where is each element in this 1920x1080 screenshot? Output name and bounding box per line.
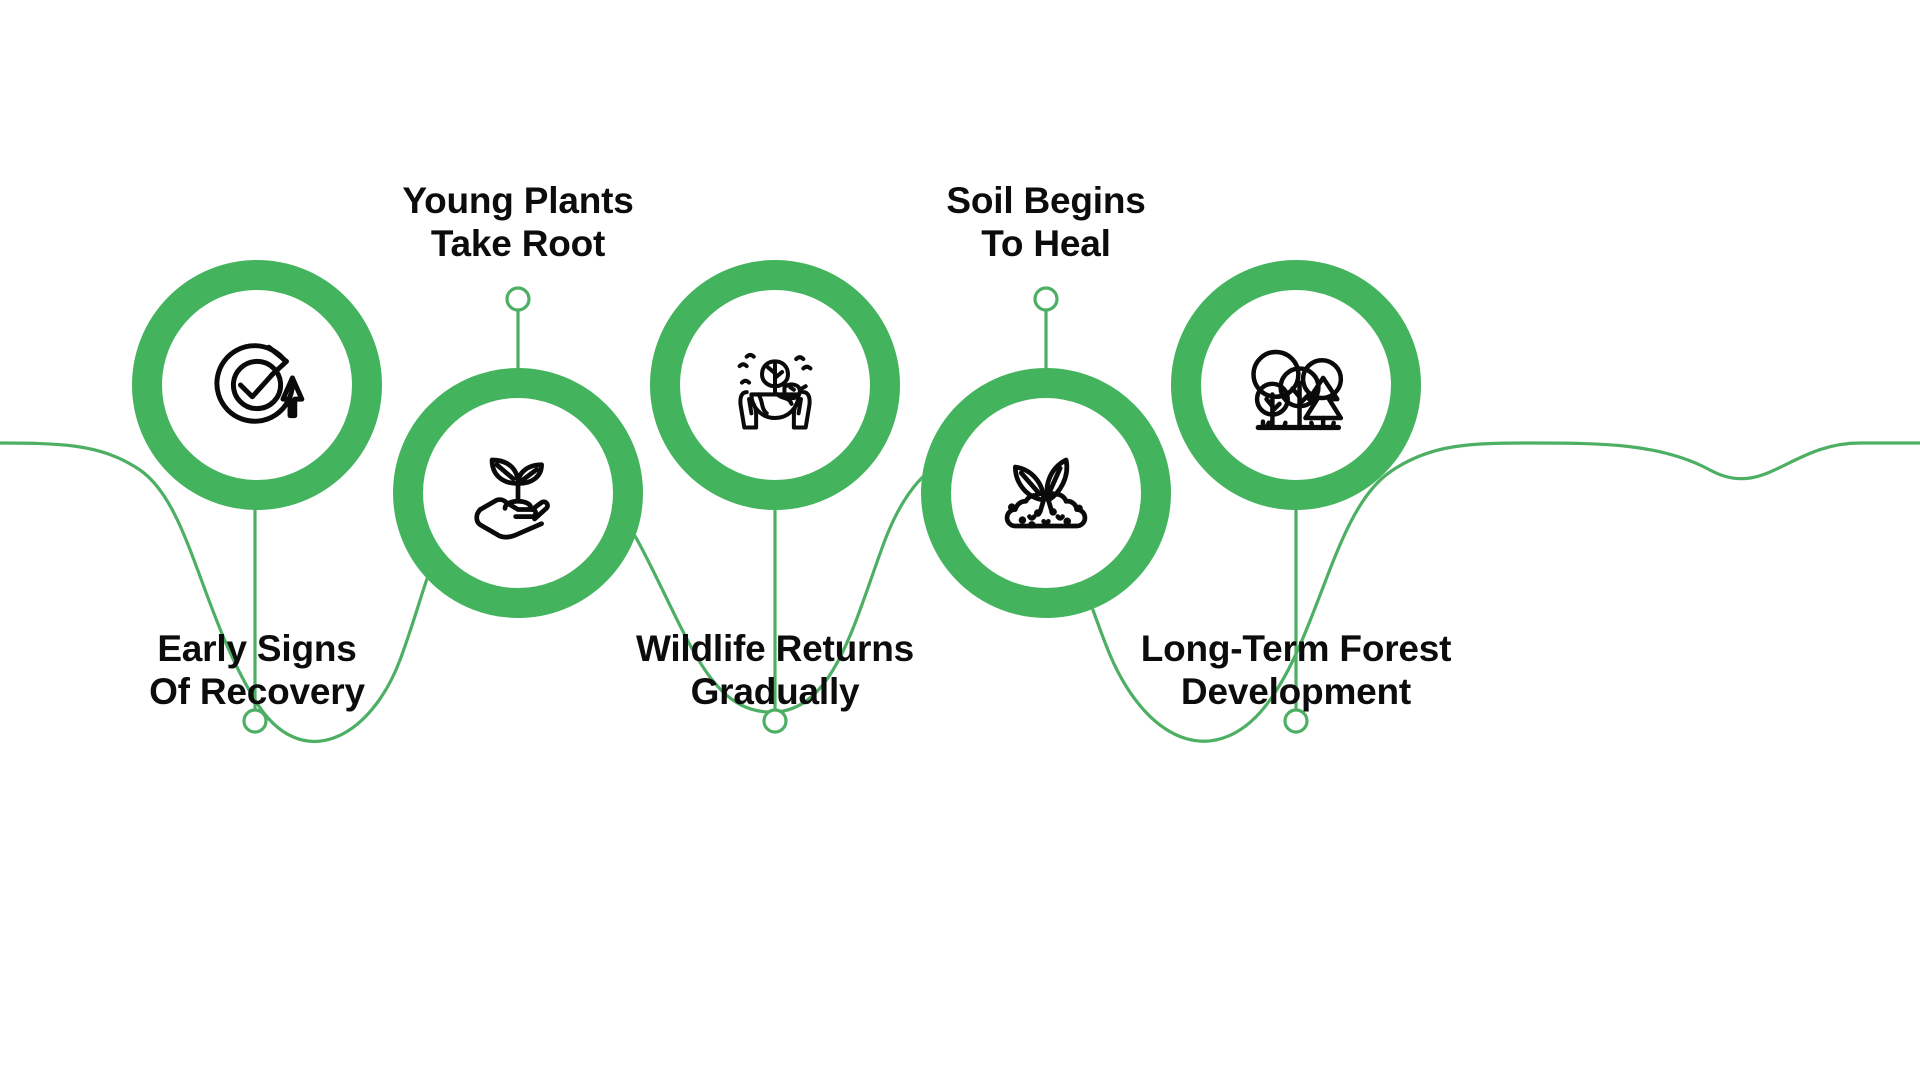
node-dot-step-4 [1035, 288, 1057, 310]
step-node-2[interactable] [393, 368, 643, 618]
infographic-canvas: Early Signs Of Recovery [0, 0, 1920, 1080]
node-dot-step-1 [244, 710, 266, 732]
step-label-2: Young Plants Take Root [288, 180, 748, 265]
refresh-check-icon [198, 326, 316, 444]
step-node-5[interactable] [1171, 260, 1421, 510]
wave-timeline-diagram: Early Signs Of Recovery [0, 0, 1920, 1080]
hand-seedling-icon [459, 434, 577, 552]
step-node-1[interactable] [132, 260, 382, 510]
sprout-soil-icon [987, 434, 1105, 552]
step-label-4: Soil Begins To Heal [816, 180, 1276, 265]
node-dot-step-5 [1285, 710, 1307, 732]
step-label-3: Wildlife Returns Gradually [545, 628, 1005, 713]
step-label-1: Early Signs Of Recovery [27, 628, 487, 713]
hands-globe-wildlife-icon [716, 326, 834, 444]
step-label-5: Long-Term Forest Development [1066, 628, 1526, 713]
node-dot-step-3 [764, 710, 786, 732]
step-node-4[interactable] [921, 368, 1171, 618]
node-dot-step-2 [507, 288, 529, 310]
forest-trees-icon [1237, 326, 1355, 444]
step-node-3[interactable] [650, 260, 900, 510]
